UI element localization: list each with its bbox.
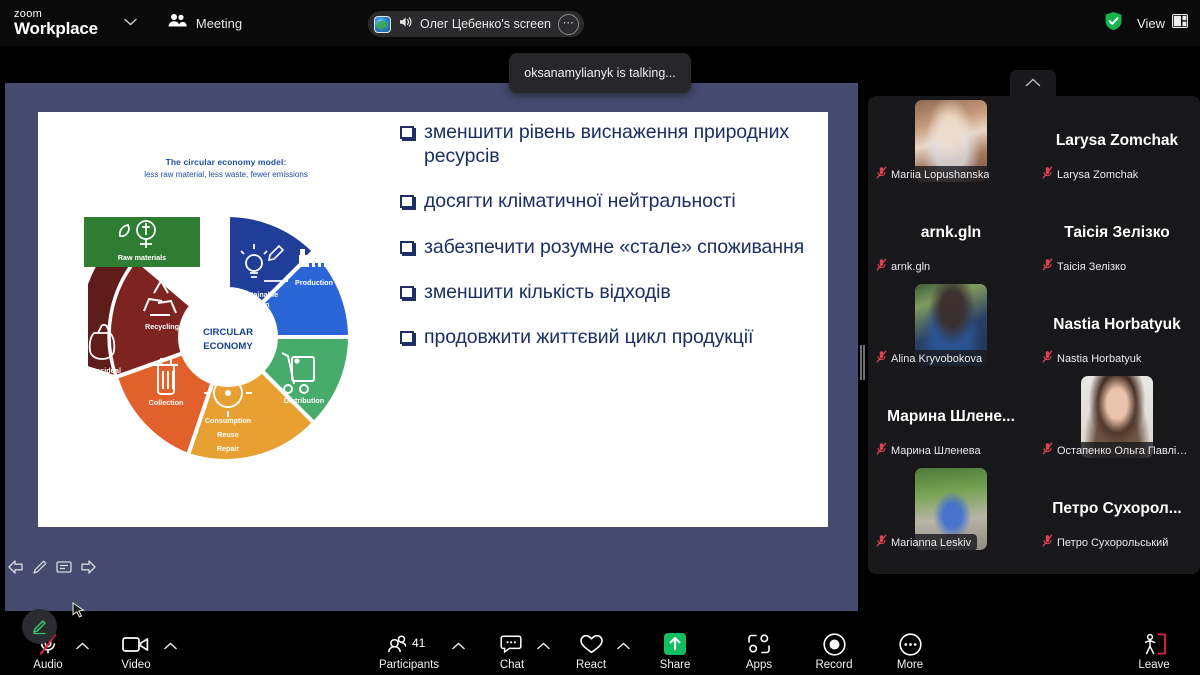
participant-tile[interactable]: arnk.gln arnk.gln <box>868 188 1034 278</box>
list-item: досягти кліматичної нейтральності <box>400 189 820 213</box>
diagram-subtitle: less raw material, less waste, fewer emi… <box>56 170 396 179</box>
segment-label-raw-materials: Raw materials <box>84 253 200 262</box>
nameplate: Alina Kryvobokova <box>872 350 988 367</box>
participant-name: Остапенко Ольга Павлів... <box>1057 445 1190 457</box>
video-options-caret[interactable] <box>164 642 177 653</box>
chevron-down-icon[interactable] <box>122 17 140 29</box>
zoom-logo-line2: Workplace <box>14 20 98 37</box>
pen-icon[interactable] <box>30 557 50 577</box>
audio-button-label: Audio <box>33 659 62 671</box>
green-shield-check-icon[interactable] <box>1104 11 1123 36</box>
apps-button[interactable]: Apps <box>722 631 796 671</box>
apps-icon <box>746 631 772 657</box>
more-button-label: More <box>897 659 923 671</box>
participants-icon: 41 <box>388 631 430 657</box>
pen-icon <box>30 617 49 636</box>
meeting-tab-label: Meeting <box>196 16 242 31</box>
video-button-label: Video <box>121 659 150 671</box>
participant-tile[interactable]: Alina Kryvobokova <box>868 280 1034 370</box>
segment-label-recycling: Recycling <box>145 322 179 331</box>
microphone-muted-icon <box>1042 442 1053 460</box>
diagram-title: The circular economy model: <box>56 157 396 167</box>
zoom-logo: zoom Workplace <box>14 9 98 37</box>
forward-arrow-icon[interactable] <box>78 557 98 577</box>
segment-label-residual-1: Residual <box>91 366 121 375</box>
nameplate: Марина Шленева <box>872 442 987 459</box>
list-item: зменшити кількість відходів <box>400 280 820 304</box>
camera-icon <box>122 631 150 657</box>
annotation-toolbar <box>6 557 98 577</box>
layout-icon <box>1172 14 1188 33</box>
microphone-muted-icon <box>876 442 887 460</box>
zoom-meeting-window: zoom Workplace Meeting <box>0 0 1200 675</box>
participant-gallery: Mariia Lopushanska Larysa Zomchak Larysa… <box>868 96 1200 574</box>
share-button[interactable]: Share <box>638 631 712 671</box>
chat-options-caret[interactable] <box>537 642 550 653</box>
mouse-cursor-icon <box>72 602 85 624</box>
factory-icon <box>299 249 325 268</box>
microphone-muted-icon <box>876 350 887 368</box>
segment-label-collection: Collection <box>149 398 184 407</box>
screen-share-label: Олег Цебенко's screen <box>420 17 551 31</box>
more-dots-icon[interactable]: ⋯ <box>558 14 579 35</box>
meeting-controls-toolbar: Audio Video 41 <box>0 621 1200 675</box>
participant-tile[interactable]: Остапенко Ольга Павлів... <box>1034 372 1200 462</box>
nameplate: Nastia Horbatyuk <box>1038 350 1147 367</box>
more-button[interactable]: More <box>873 631 947 671</box>
checkbox-icon <box>400 195 414 208</box>
bullet-text: досягти кліматичної нейтральності <box>424 189 736 213</box>
speaker-icon <box>398 15 413 34</box>
participants-button[interactable]: 41 Participants <box>372 631 446 671</box>
participant-tile[interactable]: Mariia Lopushanska <box>868 96 1034 186</box>
record-button[interactable]: Record <box>797 631 871 671</box>
talking-toast-text: oksanamylianyk is talking... <box>524 66 675 80</box>
comment-icon[interactable] <box>54 557 74 577</box>
segment-label-sustainable-2: design <box>246 300 269 309</box>
diagram-hub-line1: CIRCULAR <box>203 327 253 338</box>
microphone-muted-icon <box>1042 534 1053 552</box>
participant-name: Nastia Horbatyuk <box>1057 353 1141 365</box>
checkbox-icon <box>400 331 414 344</box>
talking-toast: oksanamylianyk is talking... <box>509 53 691 93</box>
participant-name: arnk.gln <box>891 261 930 273</box>
leave-door-icon <box>1141 631 1167 657</box>
view-button-label: View <box>1137 16 1165 31</box>
participant-name: Mariia Lopushanska <box>891 169 989 181</box>
participant-tile[interactable]: Петро Сухорол... Петро Сухорольський <box>1034 464 1200 554</box>
nameplate: arnk.gln <box>872 258 936 275</box>
participants-options-caret[interactable] <box>452 642 465 653</box>
segment-label-distribution: Distribution <box>284 396 324 405</box>
presentation-slide: The circular economy model: less raw mat… <box>38 112 828 527</box>
list-item: продовжити життєвий цикл продукції <box>400 325 820 349</box>
react-options-caret[interactable] <box>617 642 630 653</box>
leave-button-label: Leave <box>1138 659 1169 671</box>
participant-name: Larysa Zomchak <box>1057 169 1138 181</box>
bullet-text: продовжити життєвий цикл продукції <box>424 325 753 349</box>
list-item: зменшити рівень виснаження природних рес… <box>400 120 820 168</box>
screen-share-indicator[interactable]: Олег Цебенко's screen ⋯ <box>368 11 584 37</box>
nameplate: Остапенко Ольга Павлів... <box>1038 442 1196 459</box>
leave-button[interactable]: Leave <box>1117 631 1191 671</box>
segment-label-repair: Repair <box>217 444 240 453</box>
audio-options-caret[interactable] <box>76 642 89 653</box>
nameplate: Таісія Зелізко <box>1038 258 1132 275</box>
chevron-up-icon <box>1025 74 1041 92</box>
more-dots-icon <box>899 631 922 657</box>
circular-economy-diagram: The circular economy model: less raw mat… <box>56 157 396 517</box>
microphone-muted-icon <box>1042 350 1053 368</box>
meeting-tab[interactable]: Meeting <box>168 13 242 33</box>
segment-label-production: Production <box>295 278 333 287</box>
microphone-muted-icon <box>876 534 887 552</box>
bullet-text: зменшити кількість відходів <box>424 280 671 304</box>
slide-bullet-list: зменшити рівень виснаження природних рес… <box>400 120 820 370</box>
checkbox-icon <box>400 241 414 254</box>
microphone-muted-icon <box>876 166 887 184</box>
share-arrow-icon <box>663 631 687 657</box>
react-button-label: React <box>576 659 606 671</box>
microphone-muted-icon <box>1042 166 1053 184</box>
svg-text:41: 41 <box>412 636 426 650</box>
nameplate: Петро Сухорольський <box>1038 534 1174 551</box>
top-bar-right: View <box>1104 0 1188 46</box>
participant-name: Marianna Leskiv <box>891 537 971 549</box>
heart-icon <box>579 631 604 657</box>
back-arrow-icon[interactable] <box>6 557 26 577</box>
microphone-muted-icon <box>876 258 887 276</box>
chat-bubble-icon <box>500 631 524 657</box>
top-bar: zoom Workplace Meeting <box>0 0 1200 46</box>
participant-tile[interactable]: Марина Шлене... Марина Шленева <box>868 372 1034 462</box>
segment-label-residual-2: waste <box>95 376 116 385</box>
nameplate: Larysa Zomchak <box>1038 166 1144 183</box>
diagram-hub-line2: ECONOMY <box>203 341 253 352</box>
record-button-label: Record <box>815 659 852 671</box>
annotate-pen-button[interactable] <box>22 609 57 644</box>
panel-collapse-button[interactable] <box>1010 70 1056 96</box>
participant-name: Петро Сухорольський <box>1057 537 1168 549</box>
list-item: забезпечити розумне «стале» споживання <box>400 235 820 259</box>
participant-tile[interactable]: Nastia Horbatyuk Nastia Horbatyuk <box>1034 280 1200 370</box>
panel-resize-handle[interactable] <box>860 345 865 380</box>
record-dot-icon <box>823 631 846 657</box>
participant-name: Марина Шленева <box>891 445 981 457</box>
checkbox-icon <box>400 286 414 299</box>
globe-app-icon <box>374 16 391 33</box>
segment-label-consumption: Consumption <box>205 416 251 425</box>
shared-screen-region: The circular economy model: less raw mat… <box>0 46 858 621</box>
participant-tile[interactable]: Larysa Zomchak Larysa Zomchak <box>1034 96 1200 186</box>
people-icon <box>168 13 187 33</box>
bullet-text: зменшити рівень виснаження природних рес… <box>424 120 820 168</box>
share-button-label: Share <box>660 659 691 671</box>
nameplate: Mariia Lopushanska <box>872 166 995 183</box>
shared-screen-canvas: The circular economy model: less raw mat… <box>5 83 858 611</box>
video-button[interactable]: Video <box>99 631 173 671</box>
participant-tile[interactable]: Таісія Зелізко Таісія Зелізко <box>1034 188 1200 278</box>
view-button[interactable]: View <box>1137 14 1188 33</box>
apps-button-label: Apps <box>746 659 772 671</box>
segment-label-sustainable-1: Sustainable <box>238 290 278 299</box>
nameplate: Marianna Leskiv <box>872 534 977 551</box>
participants-button-label: Participants <box>379 659 439 671</box>
participant-name: Таісія Зелізко <box>1057 261 1126 273</box>
bullet-text: забезпечити розумне «стале» споживання <box>424 235 804 259</box>
segment-label-reuse: Reuse <box>217 430 239 439</box>
participant-tile[interactable]: Marianna Leskiv <box>868 464 1034 554</box>
microphone-muted-icon <box>1042 258 1053 276</box>
participant-name: Alina Kryvobokova <box>891 353 982 365</box>
chat-button-label: Chat <box>500 659 524 671</box>
checkbox-icon <box>400 126 414 139</box>
